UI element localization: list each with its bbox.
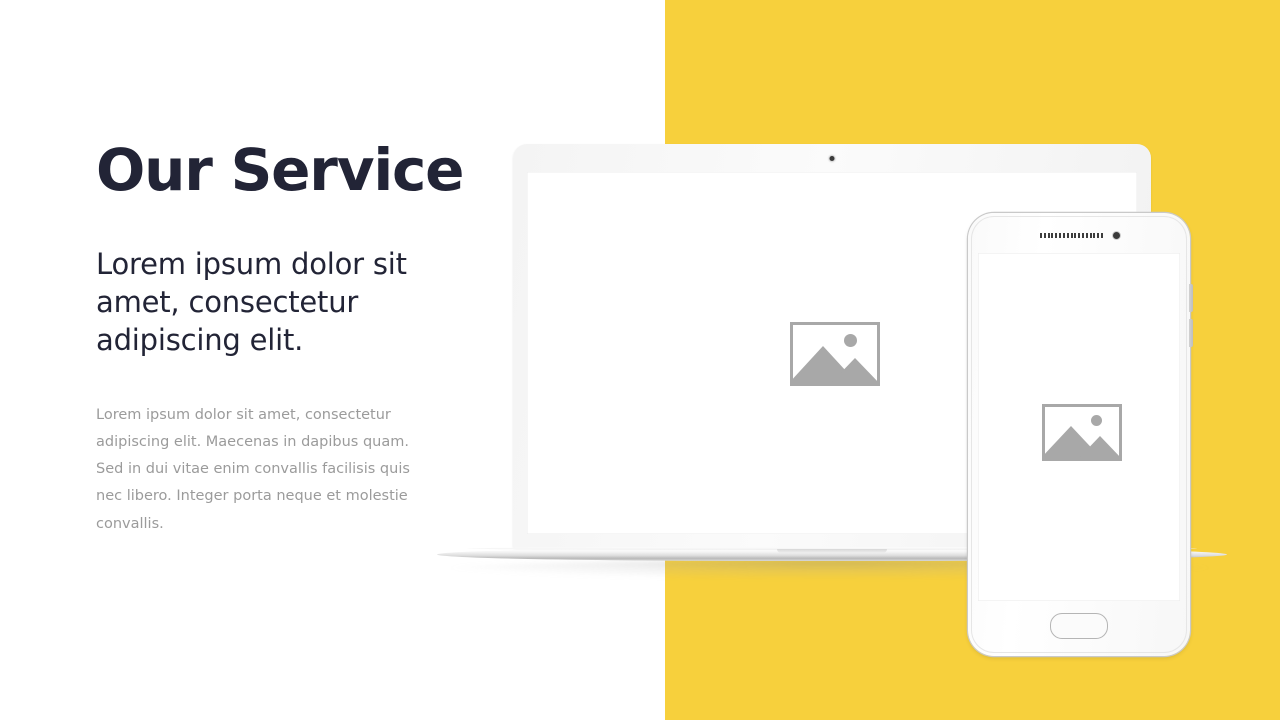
placeholder-sun-icon [1091,415,1102,426]
earpiece-speaker-grille-icon [1040,233,1103,238]
placeholder-mountain-small-icon [1079,436,1121,458]
body-paragraph: Lorem ipsum dolor sit amet, consectetur … [96,402,416,538]
laptop-base-notch [777,549,887,553]
slide-canvas: Our Service Lorem ipsum dolor sit amet, … [0,0,1280,720]
image-placeholder-icon [1042,404,1122,461]
subtitle-text: Lorem ipsum dolor sit amet, consectetur … [96,245,436,360]
webcam-dot-icon [830,156,835,161]
front-camera-dot-icon [1113,232,1120,239]
phone-side-button-top[interactable] [1189,284,1193,312]
home-button[interactable] [1050,613,1108,639]
phone-side-button-bottom[interactable] [1189,319,1193,347]
page-title: Our Service [96,140,456,201]
image-placeholder-icon [790,322,880,386]
text-content-column: Our Service Lorem ipsum dolor sit amet, … [96,140,456,538]
placeholder-mountain-small-icon [831,358,879,383]
